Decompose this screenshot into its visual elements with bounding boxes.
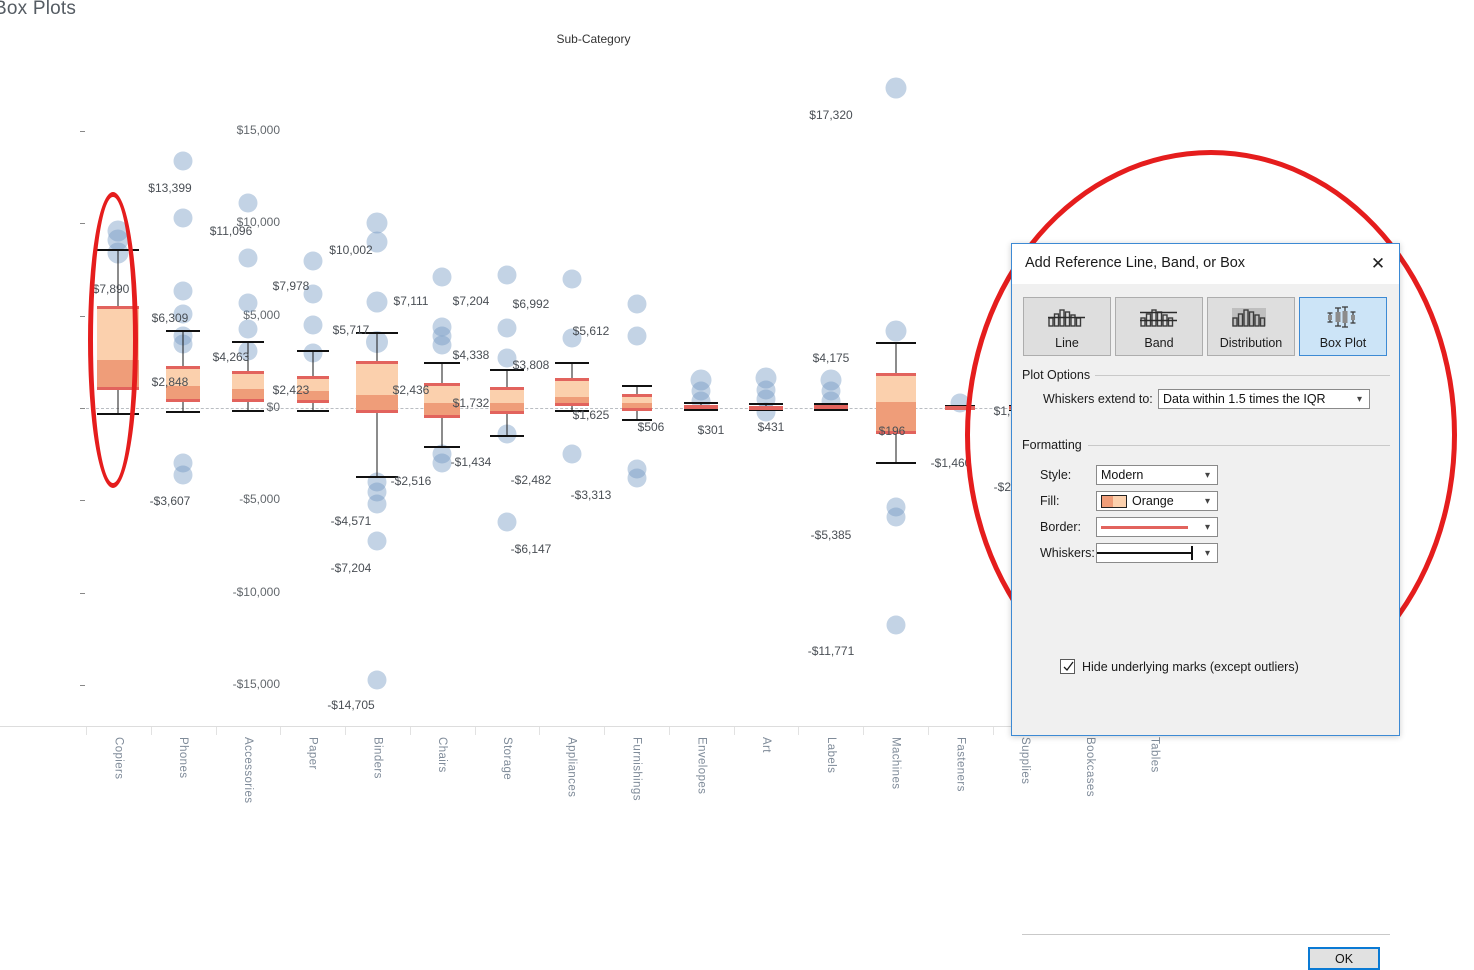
data-label: $5,717 xyxy=(333,323,370,337)
y-tick-mark xyxy=(80,131,85,132)
box-plot-machines[interactable] xyxy=(876,0,916,726)
data-label: $6,992 xyxy=(513,297,550,311)
y-tick-mark xyxy=(80,223,85,224)
box-border-bottom xyxy=(749,407,783,410)
data-label: $11,096 xyxy=(210,224,253,238)
add-reference-line-dialog[interactable]: Add Reference Line, Band, or Box ✕ Line xyxy=(1011,243,1400,736)
x-axis-separator xyxy=(475,727,476,735)
x-axis-categories: CopiersPhonesAccessoriesPaperBindersChai… xyxy=(0,726,1187,807)
x-axis-label-storage[interactable]: Storage xyxy=(501,737,513,780)
box-border-top xyxy=(555,378,589,381)
box-plot-phones[interactable] xyxy=(166,0,200,726)
whiskers-extend-value: Data within 1.5 times the IQR xyxy=(1159,392,1350,406)
x-axis-label-furnishings[interactable]: Furnishings xyxy=(631,737,643,801)
whisker-cap-lower xyxy=(297,410,329,412)
box-border-top xyxy=(356,361,398,364)
x-axis-label-fasteners[interactable]: Fasteners xyxy=(954,737,966,792)
iqr-box xyxy=(490,387,524,414)
x-axis-label-chairs[interactable]: Chairs xyxy=(436,737,448,773)
iqr-box xyxy=(749,406,783,410)
whisker-cap-lower xyxy=(490,435,524,437)
fill-label: Fill: xyxy=(1040,494,1059,508)
x-axis-separator xyxy=(539,727,540,735)
box-border-top xyxy=(876,373,916,376)
data-label: -$5,385 xyxy=(811,528,852,542)
band-icon xyxy=(1139,298,1179,336)
box-border-bottom xyxy=(424,415,460,418)
x-axis-separator xyxy=(280,727,281,735)
data-label: $2,423 xyxy=(273,383,310,397)
ok-button[interactable]: OK xyxy=(1308,947,1380,970)
hide-marks-label: Hide underlying marks (except outliers) xyxy=(1082,660,1299,674)
data-label: $5,612 xyxy=(573,324,610,338)
box-plot-paper[interactable] xyxy=(297,0,329,726)
data-label: $7,978 xyxy=(273,279,310,293)
data-label: $1,732 xyxy=(453,396,490,410)
data-label: $3,808 xyxy=(513,358,550,372)
check-icon xyxy=(1062,660,1075,673)
whisker-cap-upper xyxy=(555,362,589,364)
box-border-top xyxy=(490,387,524,390)
whisker-cap-upper xyxy=(232,341,264,343)
x-axis-separator xyxy=(604,727,605,735)
x-axis-label-appliances[interactable]: Appliances xyxy=(566,737,578,797)
border-label: Border: xyxy=(1040,520,1081,534)
whisker-cap-upper xyxy=(876,342,916,344)
dialog-title: Add Reference Line, Band, or Box xyxy=(1025,255,1245,271)
data-label: $4,338 xyxy=(453,348,490,362)
data-label: -$1,434 xyxy=(451,455,492,469)
line-icon xyxy=(1047,298,1087,336)
x-axis-label-labels[interactable]: Labels xyxy=(825,737,837,773)
plot-options-rule xyxy=(1095,375,1390,376)
iqr-box xyxy=(684,405,718,409)
whisker-cap-upper xyxy=(684,402,718,404)
box-border-top xyxy=(622,394,652,397)
fill-value: Orange xyxy=(1132,494,1174,508)
x-axis-label-supplies[interactable]: Supplies xyxy=(1019,737,1031,784)
box-plot-envelopes[interactable] xyxy=(684,0,718,726)
data-label: $7,111 xyxy=(394,294,429,308)
iqr-box xyxy=(622,394,652,412)
whisker-cap-upper xyxy=(424,362,460,364)
x-axis-separator xyxy=(151,727,152,735)
whisker-cap-upper xyxy=(166,330,200,332)
data-label: $4,175 xyxy=(813,351,850,365)
formatting-group-label: Formatting xyxy=(1022,438,1088,452)
x-axis-separator xyxy=(993,727,994,735)
data-label: $196 xyxy=(879,424,906,438)
worksheet-title: Box Plots xyxy=(0,0,76,20)
type-button-distribution-label: Distribution xyxy=(1220,336,1283,350)
y-tick-mark xyxy=(80,500,85,501)
box-plot-appliances[interactable] xyxy=(555,0,589,726)
data-label: -$2,482 xyxy=(511,473,552,487)
x-axis-separator xyxy=(734,727,735,735)
type-button-line-label: Line xyxy=(1055,336,1079,350)
style-value: Modern xyxy=(1097,468,1198,482)
y-tick-mark xyxy=(80,593,85,594)
x-axis-separator xyxy=(86,727,87,735)
data-label: -$4,571 xyxy=(331,514,372,528)
fill-select[interactable]: Orange ▾ xyxy=(1096,491,1218,511)
box-border-top xyxy=(297,376,329,379)
data-label: -$6,147 xyxy=(511,542,552,556)
box-border-bottom xyxy=(622,408,652,411)
box-border-bottom xyxy=(232,399,264,402)
whisker-style-preview xyxy=(1097,552,1192,554)
data-label: $2,848 xyxy=(152,375,189,389)
box-plot-icon xyxy=(1323,298,1363,336)
whisker-cap-upper xyxy=(622,385,652,387)
box-border-top xyxy=(232,371,264,374)
chevron-down-icon: ▾ xyxy=(1198,522,1217,533)
x-axis-label-envelopes[interactable]: Envelopes xyxy=(695,737,707,794)
data-label: $6,309 xyxy=(152,311,189,325)
box-plot-furnishings[interactable] xyxy=(622,0,652,726)
dialog-titlebar: Add Reference Line, Band, or Box ✕ xyxy=(1012,244,1399,284)
x-axis-label-art[interactable]: Art xyxy=(760,737,772,753)
style-label: Style: xyxy=(1040,468,1071,482)
fill-swatch-orange xyxy=(1101,495,1127,508)
formatting-rule xyxy=(1088,445,1390,446)
iqr-box xyxy=(814,405,848,409)
x-axis-separator xyxy=(216,727,217,735)
dialog-footer-divider xyxy=(1022,934,1390,935)
x-axis-separator xyxy=(345,727,346,735)
type-button-band[interactable]: Band xyxy=(1115,297,1203,356)
type-button-box-plot[interactable]: Box Plot xyxy=(1299,297,1387,356)
data-label: $301 xyxy=(698,423,725,437)
whisker-cap-lower xyxy=(232,410,264,412)
data-label: $10,002 xyxy=(329,243,372,257)
data-label: $7,204 xyxy=(453,294,490,308)
iqr-box xyxy=(232,371,264,402)
border-select[interactable]: ▾ xyxy=(1096,517,1218,537)
box-border-bottom xyxy=(684,406,718,409)
box-border-bottom xyxy=(166,399,200,402)
x-axis-label-machines[interactable]: Machines xyxy=(890,737,902,789)
style-select[interactable]: Modern ▾ xyxy=(1096,465,1218,485)
close-icon[interactable]: ✕ xyxy=(1363,250,1393,276)
data-label: $431 xyxy=(758,420,785,434)
plot-options-group-label: Plot Options xyxy=(1022,368,1096,382)
box-border-bottom xyxy=(490,411,524,414)
data-label: $2,436 xyxy=(393,383,430,397)
box-plot-fasteners[interactable] xyxy=(945,0,975,726)
box-border-bottom xyxy=(297,400,329,403)
box-border-bottom xyxy=(814,406,848,409)
y-tick-mark xyxy=(80,408,85,409)
type-button-line[interactable]: Line xyxy=(1023,297,1111,356)
box-plot-binders[interactable] xyxy=(356,0,398,726)
data-label: $4,263 xyxy=(213,350,250,364)
x-axis-label-paper[interactable]: Paper xyxy=(307,737,319,770)
type-button-distribution[interactable]: Distribution xyxy=(1207,297,1295,356)
whiskers-extend-label: Whiskers extend to: xyxy=(1043,392,1153,406)
box-plot-art[interactable] xyxy=(749,0,783,726)
y-tick-mark xyxy=(80,316,85,317)
data-label: $13,399 xyxy=(148,181,191,195)
x-axis-separator xyxy=(798,727,799,735)
x-axis-label-binders[interactable]: Binders xyxy=(371,737,383,779)
data-label: -$7,204 xyxy=(331,561,372,575)
whisker-cap-lower xyxy=(424,446,460,448)
chevron-down-icon: ▾ xyxy=(1198,470,1217,481)
distribution-icon xyxy=(1231,298,1271,336)
data-label: $506 xyxy=(638,420,665,434)
box-border-bottom xyxy=(356,410,398,413)
x-axis-label-bookcases[interactable]: Bookcases xyxy=(1084,737,1096,797)
box-border-bottom xyxy=(555,403,589,406)
whisker-cap-lower xyxy=(876,462,916,464)
x-axis-separator xyxy=(669,727,670,735)
x-axis-separator xyxy=(928,727,929,735)
type-button-band-label: Band xyxy=(1144,336,1173,350)
hide-marks-checkbox[interactable] xyxy=(1060,659,1075,674)
chevron-down-icon: ▾ xyxy=(1198,548,1217,559)
x-axis-label-tables[interactable]: Tables xyxy=(1149,737,1161,773)
whisker-cap-lower xyxy=(166,411,200,413)
y-tick-mark xyxy=(80,685,85,686)
whiskers-style-label: Whiskers: xyxy=(1040,546,1095,560)
data-label: -$3,607 xyxy=(150,494,191,508)
whisker-cap-upper xyxy=(297,350,329,352)
data-label: -$11,771 xyxy=(808,644,854,658)
data-label: -$14,705 xyxy=(327,698,374,712)
data-label: -$3,313 xyxy=(571,488,612,502)
data-label: $17,320 xyxy=(809,108,852,122)
x-axis-label-copiers[interactable]: Copiers xyxy=(112,737,124,779)
whiskers-style-select[interactable]: ▾ xyxy=(1096,543,1218,563)
chevron-down-icon: ▾ xyxy=(1350,394,1369,405)
data-label: $1,625 xyxy=(573,408,610,422)
whiskers-extend-select[interactable]: Data within 1.5 times the IQR ▾ xyxy=(1158,389,1370,409)
box-border-top xyxy=(166,366,200,369)
box-plot-chairs[interactable] xyxy=(424,0,460,726)
x-axis-separator xyxy=(410,727,411,735)
chevron-down-icon: ▾ xyxy=(1198,496,1217,507)
annotation-ellipse-copiers xyxy=(88,192,138,488)
iqr-box xyxy=(555,378,589,405)
data-label: -$2,516 xyxy=(391,474,432,488)
whisker-cap-upper xyxy=(749,403,783,405)
x-axis-label-accessories[interactable]: Accessories xyxy=(242,737,254,803)
type-button-box-plot-label: Box Plot xyxy=(1320,336,1367,350)
x-axis-separator xyxy=(863,727,864,735)
x-axis-label-phones[interactable]: Phones xyxy=(177,737,189,778)
border-style-preview xyxy=(1101,526,1188,529)
